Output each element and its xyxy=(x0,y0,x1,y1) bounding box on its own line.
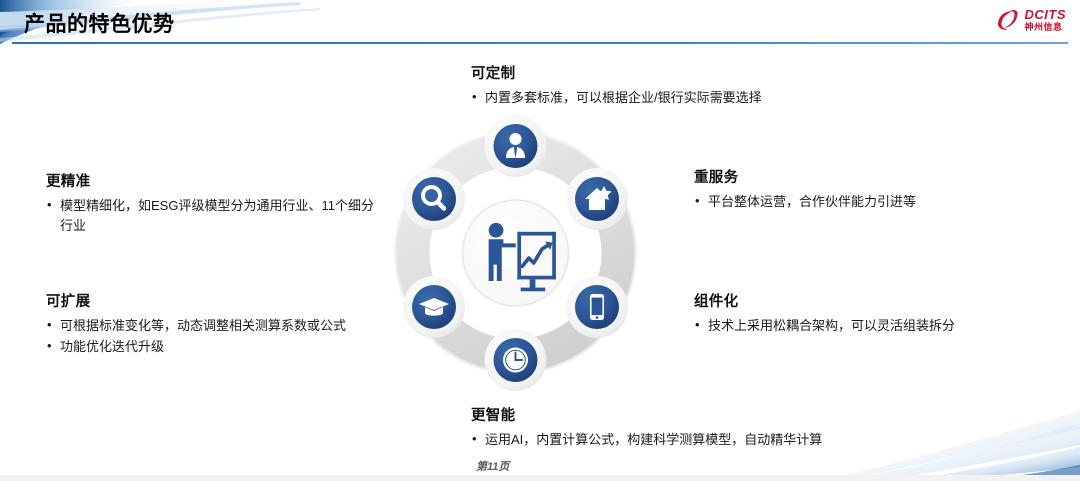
slide: 产品的特色优势 DCITS 神州信息 可定制 内置多套标准，可以根据企业/银行实… xyxy=(0,0,1080,481)
company-logo: DCITS 神州信息 xyxy=(995,8,1067,32)
clock-icon xyxy=(503,348,528,373)
feature-bullet-list: 平台整体运营，合作伙伴能力引进等 xyxy=(694,192,1034,212)
hub-and-spoke-diagram xyxy=(378,108,653,398)
dcits-swirl-icon xyxy=(995,8,1021,32)
logo-cn-label: 神州信息 xyxy=(1025,23,1067,32)
header-divider-rule xyxy=(12,42,1068,44)
feature-block-zhongfuwu: 重服务 平台整体运营，合作伙伴能力引进等 xyxy=(694,166,1034,213)
feature-title: 可定制 xyxy=(471,62,941,83)
mobile-phone-icon xyxy=(590,294,604,320)
slide-header: 产品的特色优势 DCITS 神州信息 xyxy=(0,0,1080,44)
list-item: 平台整体运营，合作伙伴能力引进等 xyxy=(694,192,1034,212)
feature-title: 更精准 xyxy=(46,170,376,191)
diagram-node-home[interactable] xyxy=(566,168,628,230)
diagram-node-graduation[interactable] xyxy=(403,276,465,338)
list-item: 内置多套标准，可以根据企业/银行实际需要选择 xyxy=(471,88,941,108)
feature-bullet-list: 可根据标准变化等，动态调整相关测算系数或公式 功能优化迭代升级 xyxy=(46,316,376,357)
feature-block-kekuozhan: 可扩展 可根据标准变化等，动态调整相关测算系数或公式 功能优化迭代升级 xyxy=(46,290,376,358)
diagram-node-clock[interactable] xyxy=(485,329,547,391)
footer-swoosh-decoration xyxy=(820,411,1080,481)
feature-title: 重服务 xyxy=(694,166,1034,187)
footer-bar xyxy=(0,475,1080,481)
list-item: 功能优化迭代升级 xyxy=(46,337,376,357)
diagram-node-search[interactable] xyxy=(403,168,465,230)
page-title: 产品的特色优势 xyxy=(24,8,175,38)
diagram-node-businessman[interactable] xyxy=(485,115,547,177)
diagram-center xyxy=(463,200,569,306)
feature-block-kedingzhi: 可定制 内置多套标准，可以根据企业/银行实际需要选择 xyxy=(471,62,941,109)
list-item: 模型精细化，如ESG评级模型分为通用行业、11个细分行业 xyxy=(46,196,376,236)
diagram-node-mobile[interactable] xyxy=(566,276,628,338)
logo-text: DCITS 神州信息 xyxy=(1025,8,1067,32)
feature-block-gengjingzhun: 更精准 模型精细化，如ESG评级模型分为通用行业、11个细分行业 xyxy=(46,170,376,237)
feature-title: 可扩展 xyxy=(46,290,376,311)
list-item: 技术上采用松耦合架构，可以灵活组装拆分 xyxy=(694,316,1034,336)
feature-bullet-list: 技术上采用松耦合架构，可以灵活组装拆分 xyxy=(694,316,1034,336)
feature-block-zujianhua: 组件化 技术上采用松耦合架构，可以灵活组装拆分 xyxy=(694,290,1034,337)
page-number-label: 第11页 xyxy=(476,458,509,474)
feature-bullet-list: 模型精细化，如ESG评级模型分为通用行业、11个细分行业 xyxy=(46,196,376,236)
list-item: 可根据标准变化等，动态调整相关测算系数或公式 xyxy=(46,316,376,336)
feature-title: 组件化 xyxy=(694,290,1034,311)
logo-en-label: DCITS xyxy=(1025,8,1067,21)
feature-bullet-list: 内置多套标准，可以根据企业/银行实际需要选择 xyxy=(471,88,941,108)
